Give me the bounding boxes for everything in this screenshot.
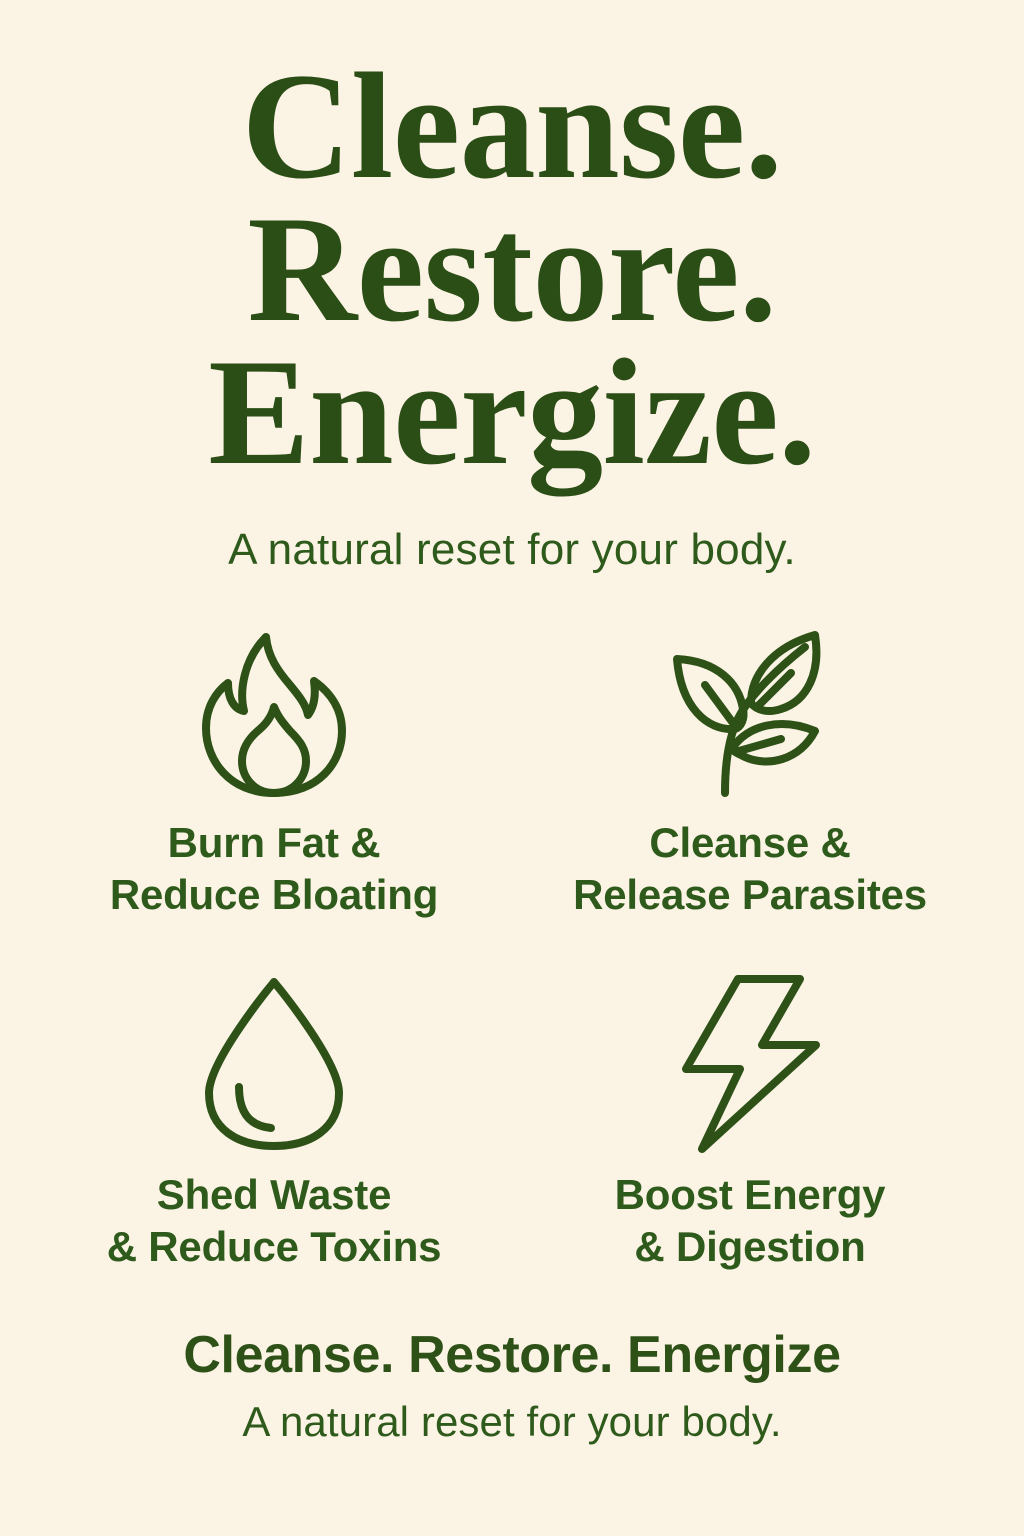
benefit-item-burn-fat: Burn Fat & Reduce Bloating — [36, 621, 512, 921]
benefit-label: Boost Energy & Digestion — [615, 1169, 886, 1273]
flame-icon — [179, 621, 369, 799]
headline-line-1: Cleanse. — [40, 58, 984, 195]
lightning-bolt-icon — [655, 973, 845, 1151]
benefit-label: Burn Fat & Reduce Bloating — [110, 817, 438, 921]
benefit-label: Cleanse & Release Parasites — [573, 817, 927, 921]
benefit-item-cleanse: Cleanse & Release Parasites — [512, 621, 988, 921]
water-droplet-icon — [179, 973, 369, 1151]
benefit-label: Shed Waste & Reduce Toxins — [107, 1169, 442, 1273]
promo-poster: Cleanse. Restore. Energize. A natural re… — [0, 0, 1024, 1536]
hero-subtitle: A natural reset for your body. — [40, 526, 984, 574]
footer-subtitle: A natural reset for your body. — [30, 1398, 994, 1446]
benefits-grid: Burn Fat & Reduce Bloating — [0, 621, 1024, 1273]
headline-line-2: Restore. — [40, 201, 984, 338]
leaf-sprig-icon — [655, 621, 845, 799]
hero-section: Cleanse. Restore. Energize. A natural re… — [0, 0, 1024, 575]
headline-line-3: Energize. — [40, 344, 984, 481]
benefit-item-boost-energy: Boost Energy & Digestion — [512, 973, 988, 1273]
footer-title: Cleanse. Restore. Energize — [30, 1327, 994, 1384]
benefit-item-shed-waste: Shed Waste & Reduce Toxins — [36, 973, 512, 1273]
footer-section: Cleanse. Restore. Energize A natural res… — [0, 1327, 1024, 1446]
